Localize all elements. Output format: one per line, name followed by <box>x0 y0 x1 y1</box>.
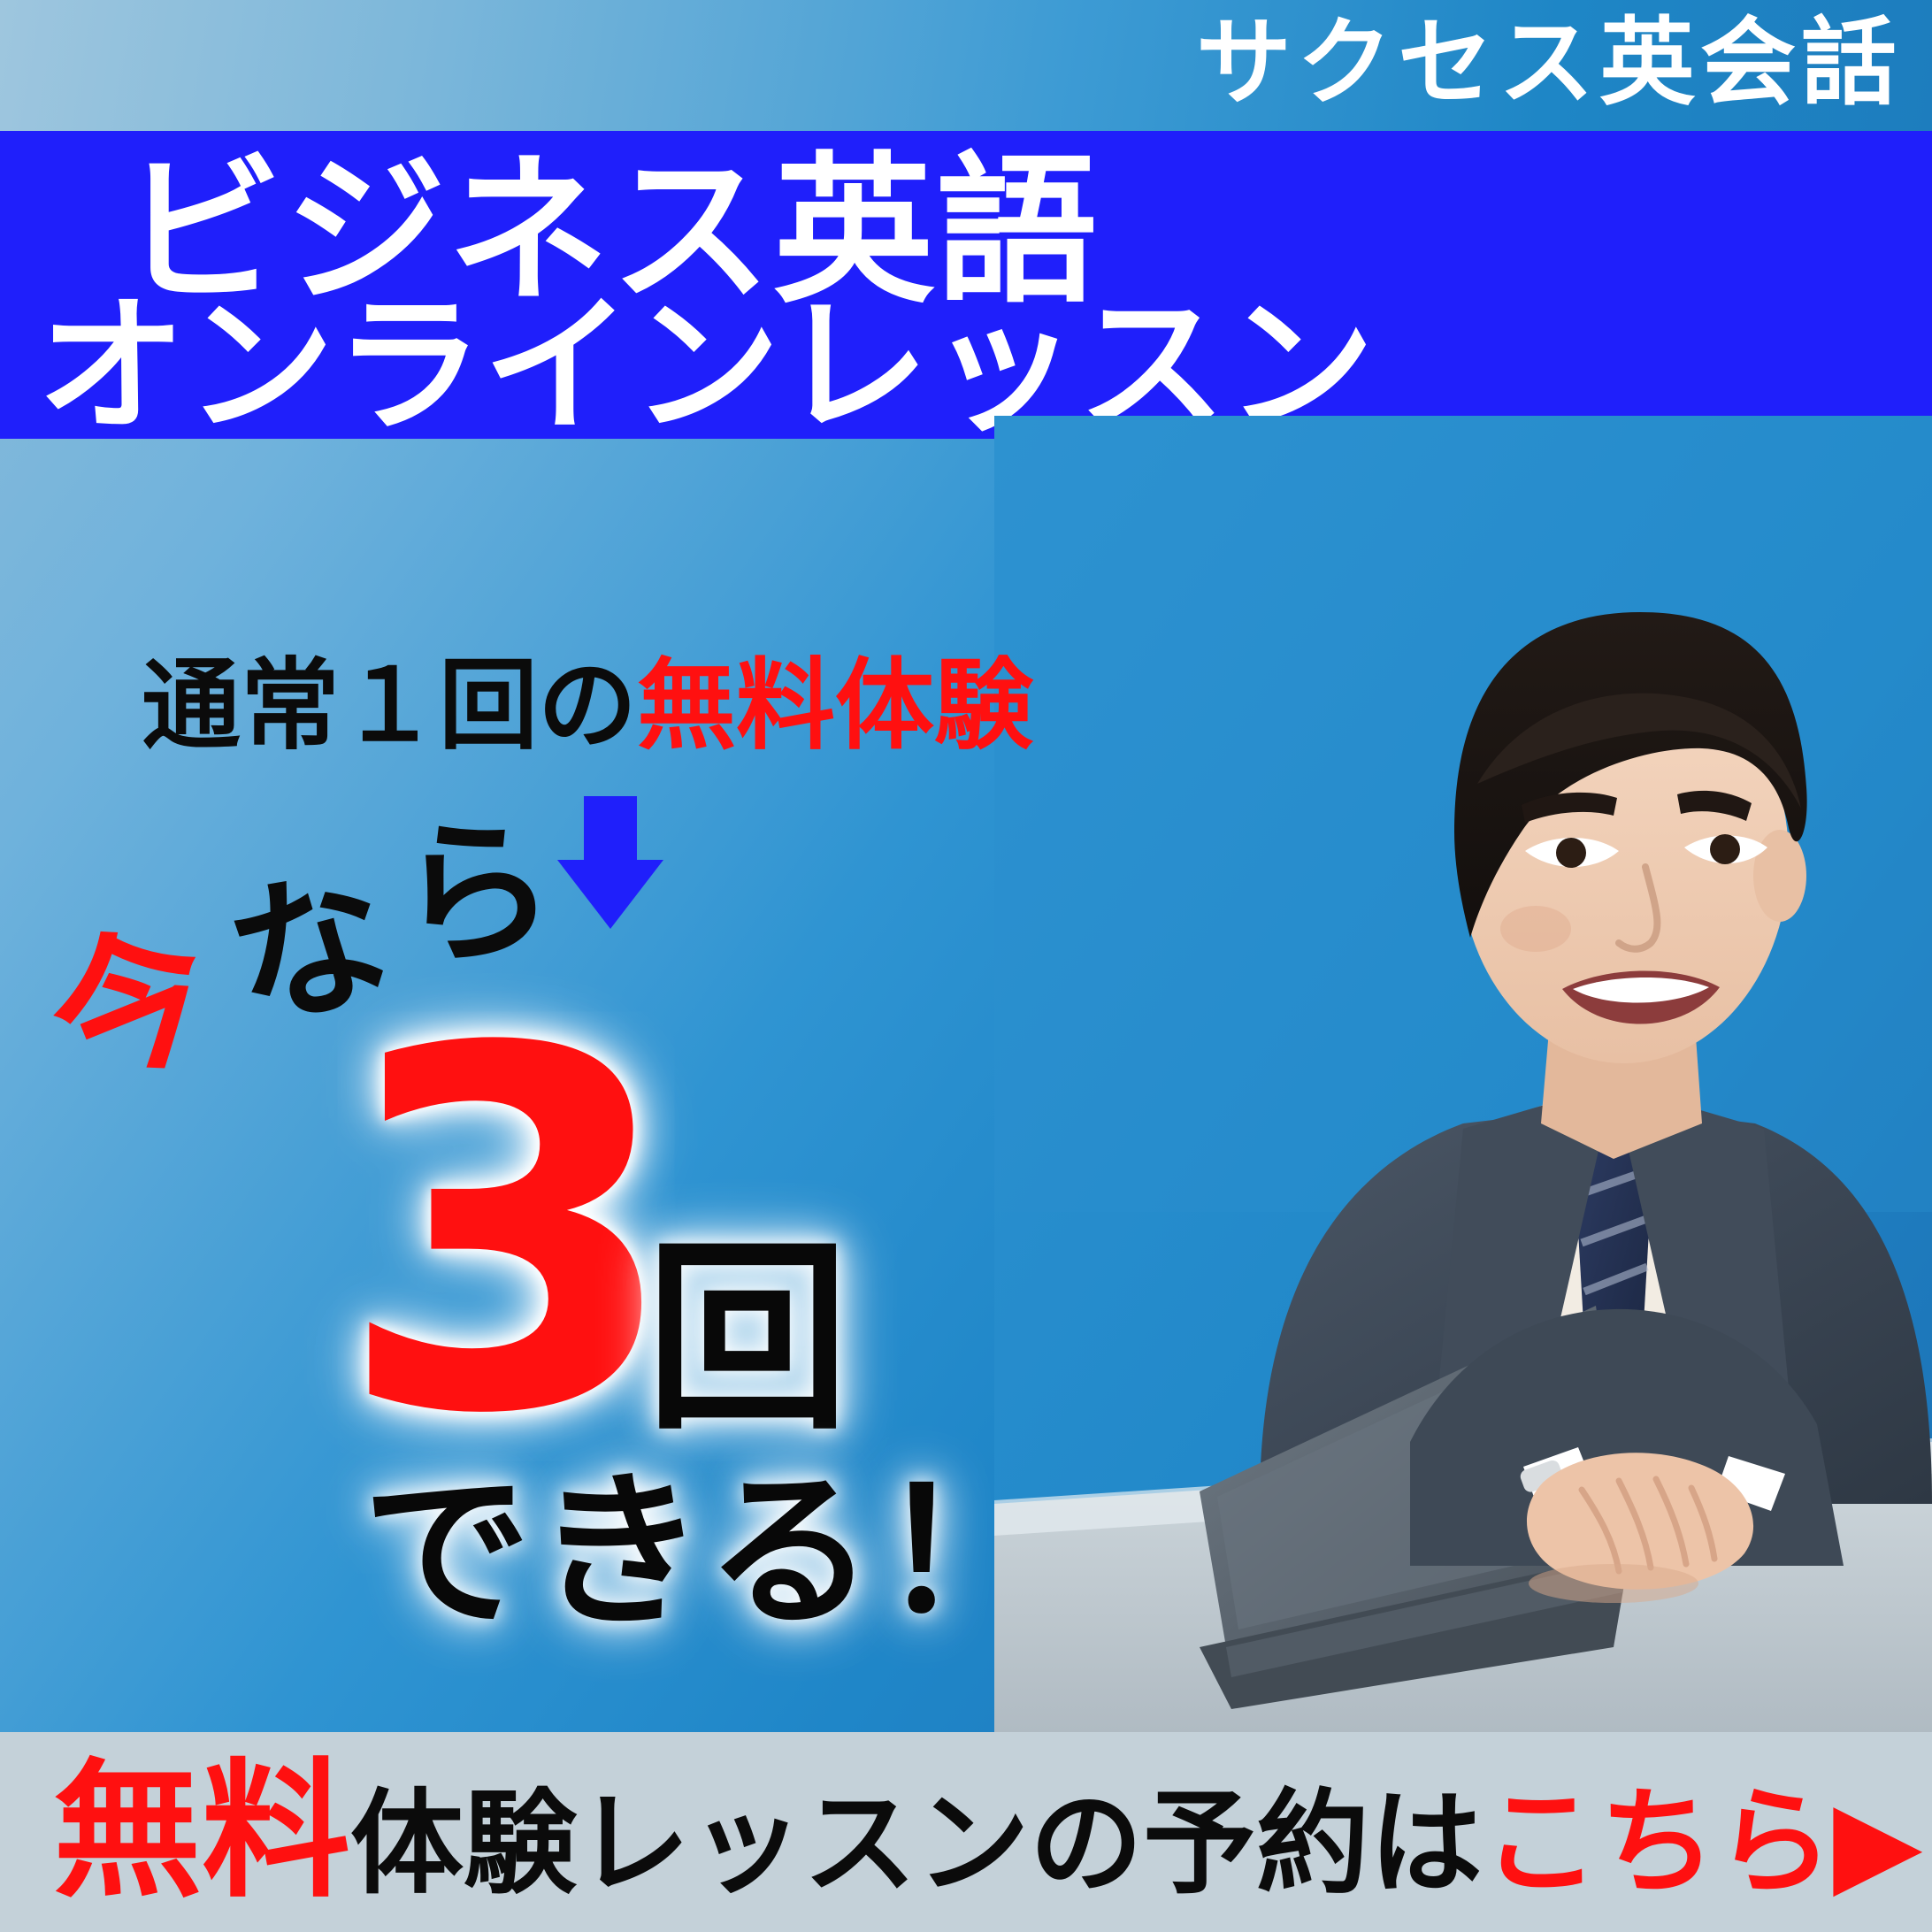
businessman-photo <box>994 416 1932 1752</box>
offer-count-unit: 回 <box>646 1238 849 1442</box>
cta-text: 無料体験レッスンの予約はこちら▶ <box>53 1757 1923 1905</box>
cta-here-label: こちら <box>1483 1775 1833 1911</box>
brand-logo-text: サクセス英会話 <box>1196 16 1902 111</box>
trial-note-normal: 通常１回の <box>142 648 637 763</box>
trial-note-line: 通常１回の無料体験 <box>142 656 1033 755</box>
offer-count-number: 3 <box>336 986 681 1482</box>
headline-banner: ビジネス英語 オンラインレッスン <box>0 131 1932 439</box>
offer-char-ima: 今 <box>31 905 234 1108</box>
cta-free-label: 無料 <box>53 1744 350 1918</box>
cta-arrow-icon: ▶ <box>1833 1775 1923 1911</box>
offer-suffix-text: できる！ <box>363 1468 1053 1637</box>
ad-banner: サクセス英会話 ビジネス英語 オンラインレッスン <box>0 0 1932 1932</box>
cta-bar[interactable]: 無料体験レッスンの予約はこちら▶ <box>0 1732 1932 1932</box>
cta-middle-label: 体験レッスンの予約は <box>350 1778 1483 1910</box>
trial-note-highlight: 無料体験 <box>637 648 1033 763</box>
